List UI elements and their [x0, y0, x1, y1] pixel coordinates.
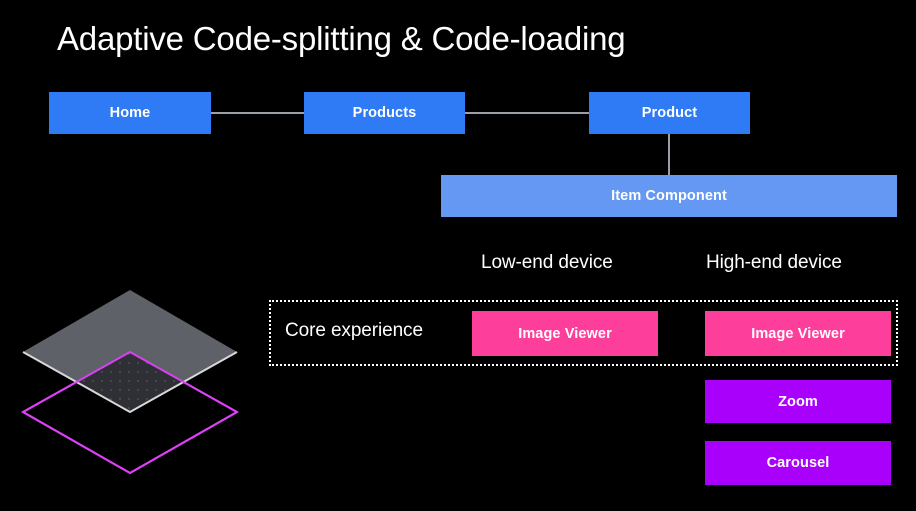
flow-node-products[interactable]: Products — [304, 92, 465, 134]
feature-box-high-end-carousel[interactable]: Carousel — [705, 441, 891, 485]
bottom-diamond-front-edge — [23, 412, 237, 473]
layered-diamonds-svg — [10, 280, 260, 490]
feature-box-low-end-image-viewer[interactable]: Image Viewer — [472, 311, 658, 356]
feature-box-high-end-image-viewer[interactable]: Image Viewer — [705, 311, 891, 356]
page-title: Adaptive Code-splitting & Code-loading — [57, 18, 625, 60]
flow-node-product[interactable]: Product — [589, 92, 750, 134]
feature-box-high-end-zoom[interactable]: Zoom — [705, 380, 891, 423]
flow-node-home[interactable]: Home — [49, 92, 211, 134]
layered-diamonds-graphic — [10, 280, 260, 490]
column-header-high-end-device: High-end device — [706, 252, 842, 274]
slide-canvas: Adaptive Code-splitting & Code-loading — [0, 0, 916, 511]
column-header-low-end-device: Low-end device — [481, 252, 613, 274]
core-experience-label: Core experience — [285, 320, 423, 342]
connector-products-to-product — [465, 112, 589, 114]
flow-node-item-component[interactable]: Item Component — [441, 175, 897, 217]
connector-product-to-item-component — [668, 134, 670, 175]
connector-home-to-products — [211, 112, 304, 114]
